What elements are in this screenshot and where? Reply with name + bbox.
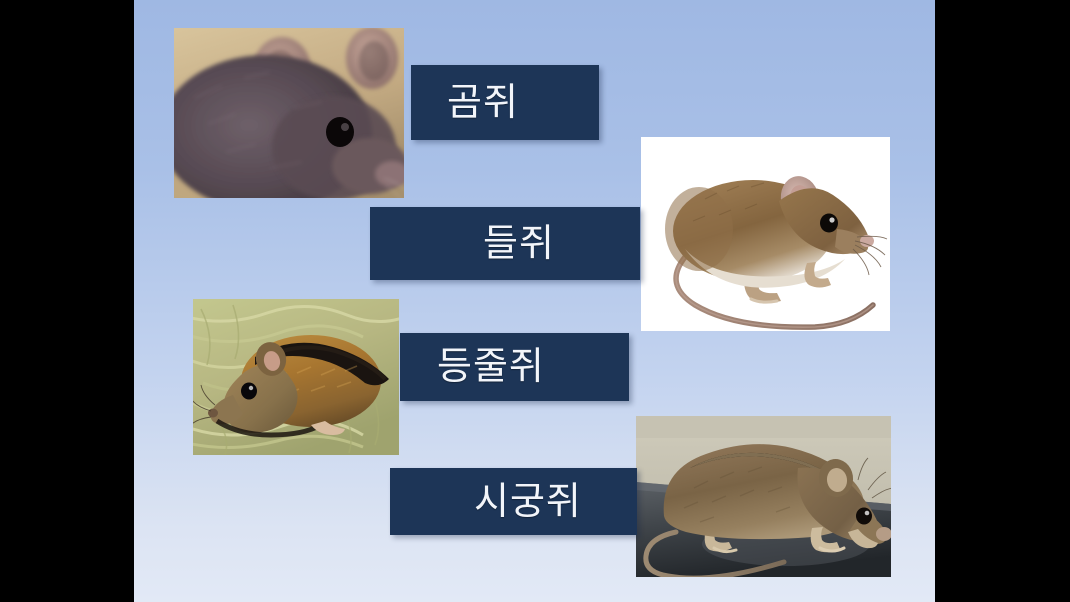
- label-box-deuljwi[interactable]: 들쥐: [370, 207, 640, 280]
- brown-rat-image: [636, 416, 891, 577]
- field-mouse-image: [641, 137, 890, 331]
- label-text-sigungjwi: 시궁쥐: [474, 483, 582, 521]
- label-text-gomjwi: 곰쥐: [447, 84, 519, 122]
- label-text-deungjuljwi: 등줄쥐: [437, 348, 545, 386]
- striped-field-mouse-image: [193, 299, 399, 455]
- label-text-deuljwi: 들쥐: [483, 225, 555, 263]
- slide-canvas: 곰쥐 들쥐 등줄쥐 시궁쥐: [134, 0, 935, 602]
- letterbox-bar-right: [935, 0, 1070, 602]
- photo-sigungjwi: [636, 416, 891, 577]
- black-rat-image: [174, 28, 404, 198]
- photo-deungjuljwi: [193, 299, 399, 455]
- label-box-sigungjwi[interactable]: 시궁쥐: [390, 468, 637, 535]
- label-box-deungjuljwi[interactable]: 등줄쥐: [400, 333, 629, 401]
- photo-deuljwi: [641, 137, 890, 331]
- letterbox-bar-left: [0, 0, 134, 602]
- slide-viewer: 곰쥐 들쥐 등줄쥐 시궁쥐: [0, 0, 1070, 602]
- label-box-gomjwi[interactable]: 곰쥐: [411, 65, 599, 140]
- photo-gomjwi: [174, 28, 404, 198]
